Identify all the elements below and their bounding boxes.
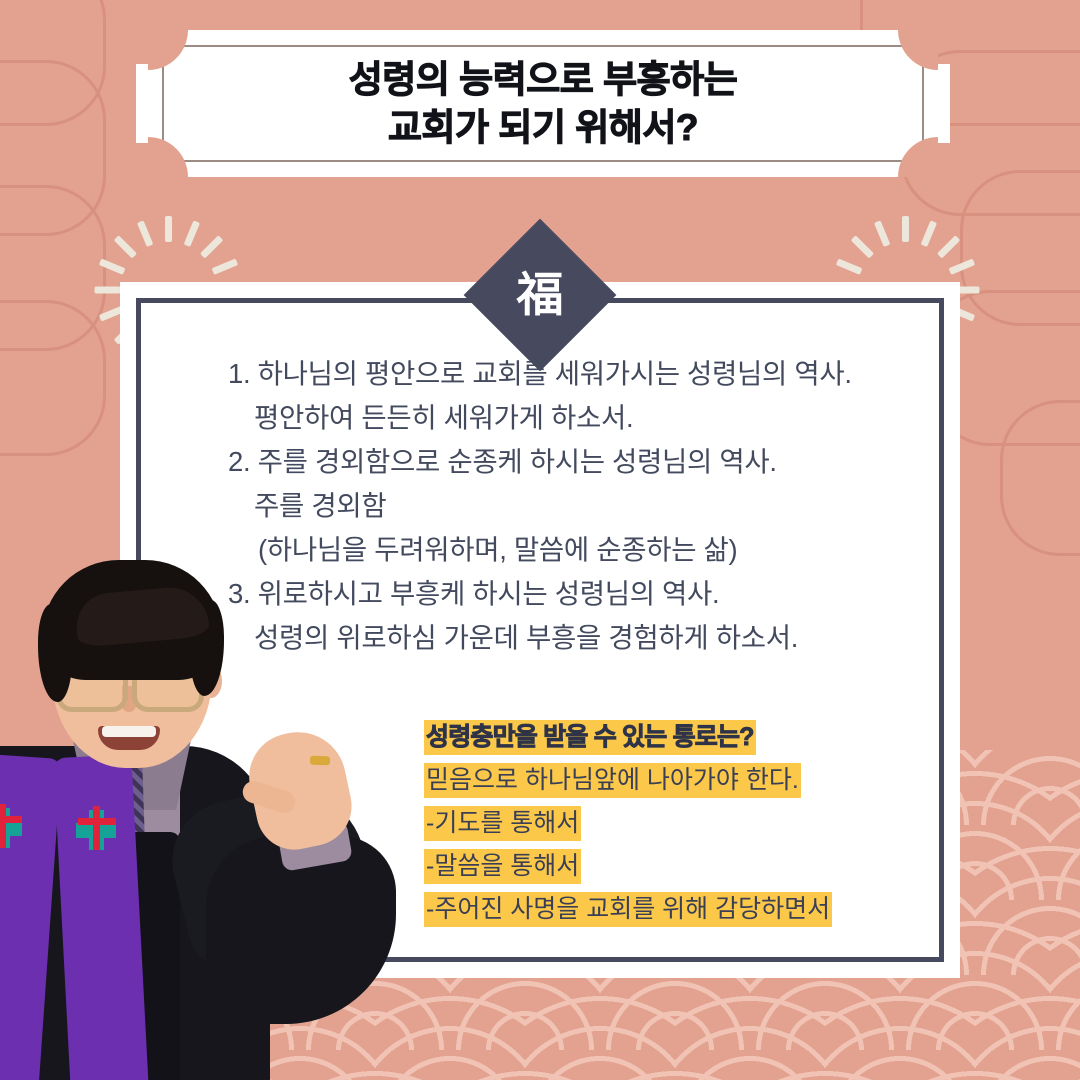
sunburst-ray bbox=[113, 235, 136, 258]
sunburst-ray bbox=[873, 220, 889, 247]
highlight-row: -주어진 사명을 교회를 위해 감당하면서 bbox=[424, 888, 894, 931]
sunburst-ray bbox=[98, 258, 125, 274]
poster-canvas: 성령의 능력으로 부흥하는 교회가 되기 위해서? 福 1. 하나님의 평안으로… bbox=[0, 0, 1080, 1080]
highlight-row: -말씀을 통해서 bbox=[424, 845, 894, 888]
mouth bbox=[98, 726, 160, 750]
pastor-photo bbox=[0, 560, 380, 1080]
prayer-point-line: 평안하여 든든히 세워가게 하소서. bbox=[228, 396, 908, 440]
fortune-character-glyph: 福 bbox=[517, 272, 564, 319]
highlight-text: 믿음으로 하나님앞에 나아가야 한다. bbox=[424, 763, 801, 798]
sunburst-ray bbox=[920, 220, 936, 247]
cross-emblem-icon bbox=[76, 810, 116, 850]
sunburst-ray bbox=[850, 235, 873, 258]
sunburst-ray bbox=[94, 287, 120, 294]
prayer-point-line: 1. 하나님의 평안으로 교회를 세워가시는 성령님의 역사. bbox=[228, 352, 908, 396]
sunburst-ray bbox=[936, 235, 959, 258]
prayer-point-line: 2. 주를 경외함으로 순종케 하시는 성령님의 역사. bbox=[228, 440, 908, 484]
maze-pattern-line bbox=[0, 60, 106, 236]
highlight-text: -기도를 통해서 bbox=[424, 806, 581, 841]
highlight-row: 믿음으로 하나님앞에 나아가야 한다. bbox=[424, 759, 894, 802]
sunburst-ray bbox=[165, 216, 172, 242]
page-title-line-1: 성령의 능력으로 부흥하는 bbox=[148, 55, 938, 103]
sunburst-ray bbox=[199, 235, 222, 258]
sunburst-ray bbox=[902, 216, 909, 242]
sunburst-ray bbox=[835, 258, 862, 274]
highlight-text: -말씀을 통해서 bbox=[424, 849, 581, 884]
highlight-block: 성령충만을 받을 수 있는 통로는? 믿음으로 하나님앞에 나아가야 한다.-기… bbox=[424, 716, 894, 931]
maze-pattern-line bbox=[960, 170, 1080, 326]
sunburst-ray bbox=[183, 220, 199, 247]
ring bbox=[310, 756, 330, 766]
maze-pattern-line bbox=[0, 0, 106, 126]
highlight-text: -주어진 사명을 교회를 위해 감당하면서 bbox=[424, 892, 832, 927]
banner-tab-right bbox=[936, 64, 950, 143]
sunburst-ray bbox=[948, 258, 975, 274]
highlight-row: -기도를 통해서 bbox=[424, 802, 894, 845]
highlight-heading: 성령충만을 받을 수 있는 통로는? bbox=[424, 716, 894, 759]
sunburst-ray bbox=[211, 258, 238, 274]
maze-pattern-line bbox=[0, 300, 106, 456]
page-title: 성령의 능력으로 부흥하는 교회가 되기 위해서? bbox=[148, 55, 938, 151]
maze-pattern-line bbox=[0, 185, 106, 351]
title-banner: 성령의 능력으로 부흥하는 교회가 되기 위해서? bbox=[148, 30, 938, 177]
hair-side-left bbox=[38, 604, 72, 702]
prayer-point-line: 주를 경외함 bbox=[228, 484, 908, 528]
sunburst-ray bbox=[136, 220, 152, 247]
cross-emblem-icon bbox=[0, 808, 22, 848]
page-title-line-2: 교회가 되기 위해서? bbox=[148, 104, 938, 152]
maze-pattern-line bbox=[1000, 400, 1080, 556]
